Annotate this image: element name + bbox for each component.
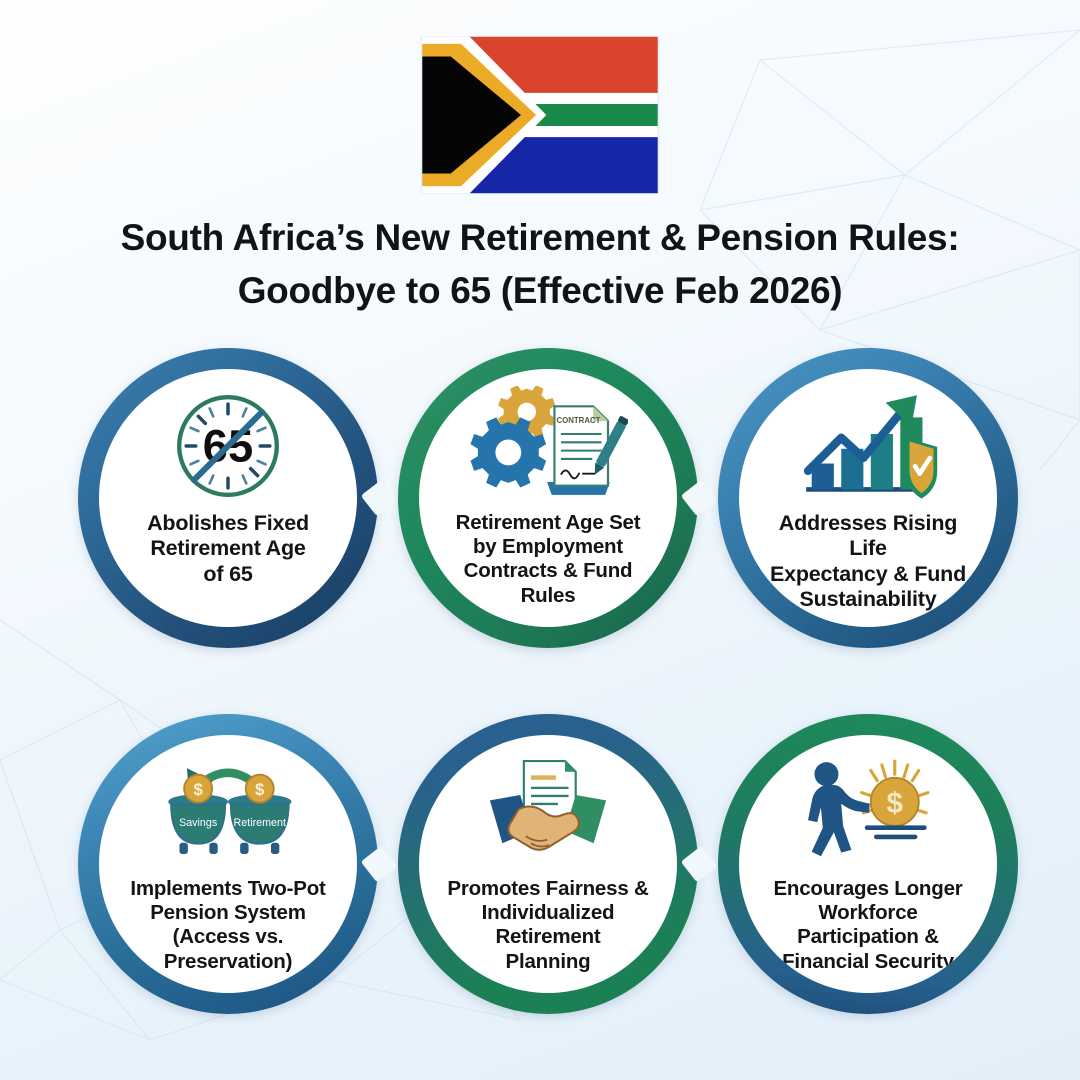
feature-ring-5: Promotes Fairness & Individualized Retir… (398, 714, 698, 1014)
feature-node-1[interactable]: 65 Abolishes Fixed Retirement Age of 65 (78, 348, 378, 648)
svg-text:$: $ (193, 780, 203, 799)
feature-ring-1: 65 Abolishes Fixed Retirement Age of 65 (78, 348, 378, 648)
feature-circle-grid: 65 Abolishes Fixed Retirement Age of 65 (0, 348, 1080, 1020)
title-line-1: South Africa’s New Retirement & Pension … (70, 212, 1010, 265)
feature-ring-4: $ Savings (78, 714, 378, 1014)
feature-label-6: Encourages Longer Workforce Participatio… (765, 877, 971, 974)
feature-node-2[interactable]: CONTRACT (398, 348, 698, 648)
pot-label-retirement: Retirement (234, 817, 286, 829)
walking-person-coin-icon: $ (783, 751, 953, 873)
growth-chart-shield-icon (783, 385, 953, 507)
no-65-clock-icon: 65 (143, 385, 313, 507)
two-pots-transfer-icon: $ Savings (143, 751, 313, 873)
contract-document-label: CONTRACT (557, 416, 601, 425)
gears-contract-icon: CONTRACT (463, 385, 633, 507)
feature-label-5: Promotes Fairness & Individualized Retir… (445, 877, 651, 974)
handshake-document-icon (463, 751, 633, 873)
feature-ring-3: Addresses Rising Life Expectancy & Fund … (718, 348, 1018, 648)
feature-label-2: Retirement Age Set by Employment Contrac… (445, 511, 651, 608)
feature-row-top: 65 Abolishes Fixed Retirement Age of 65 (0, 348, 1080, 654)
feature-label-1: Abolishes Fixed Retirement Age of 65 (125, 511, 331, 587)
feature-row-bottom: $ Savings (0, 714, 1080, 1020)
feature-node-6[interactable]: $ Encourages Longer Workforce Participat… (718, 714, 1018, 1014)
feature-node-3[interactable]: Addresses Rising Life Expectancy & Fund … (718, 348, 1018, 648)
title-line-2: Goodbye to 65 (Effective Feb 2026) (70, 265, 1010, 318)
feature-ring-6: $ Encourages Longer Workforce Participat… (718, 714, 1018, 1014)
infographic-poster: South Africa’s New Retirement & Pension … (0, 0, 1080, 1080)
south-africa-flag (416, 36, 664, 194)
feature-node-4[interactable]: $ Savings (78, 714, 378, 1014)
svg-text:$: $ (255, 780, 265, 799)
feature-label-4: Implements Two-Pot Pension System (Acces… (125, 877, 331, 974)
page-title: South Africa’s New Retirement & Pension … (0, 212, 1080, 317)
feature-label-3: Addresses Rising Life Expectancy & Fund … (765, 511, 971, 612)
svg-text:$: $ (887, 787, 903, 820)
pot-label-savings: Savings (179, 817, 217, 829)
feature-ring-2: CONTRACT (398, 348, 698, 648)
feature-node-5[interactable]: Promotes Fairness & Individualized Retir… (398, 714, 698, 1014)
